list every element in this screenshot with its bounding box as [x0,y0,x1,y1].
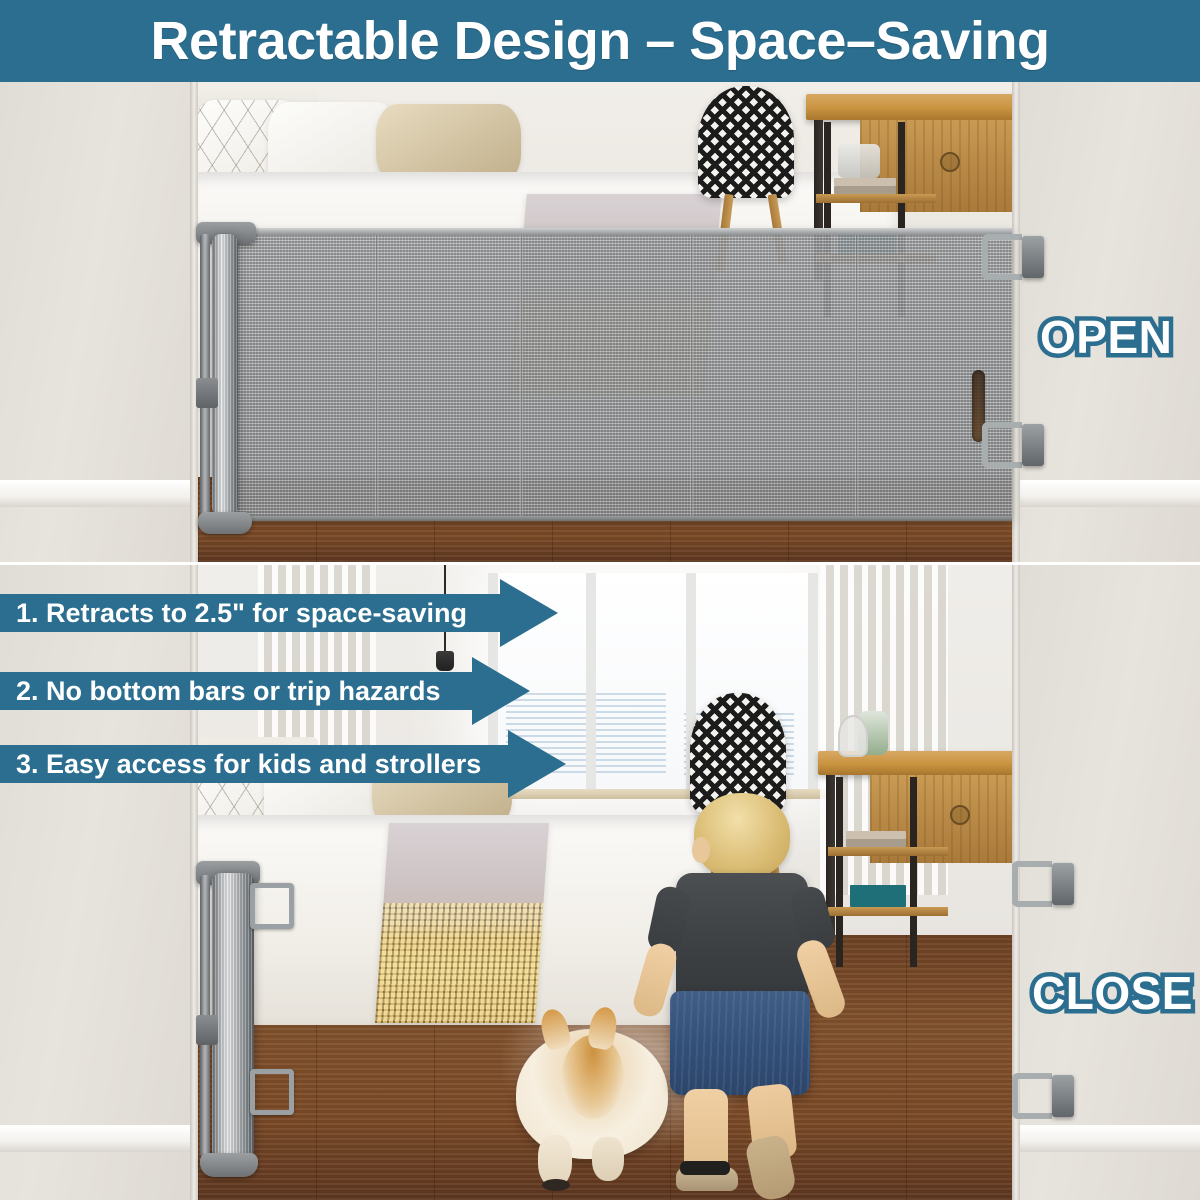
status-badge-open: OPEN [1040,314,1172,360]
window-mullion [808,573,818,791]
wall-left-bottom [0,565,196,1200]
mesh-seam [375,230,378,520]
latch-plate [1022,236,1044,278]
feature-banner-2: 2. No bottom bars or trip hazards [0,672,530,710]
mesh-seam [855,230,858,520]
mesh-seam [520,230,523,520]
desk-drawer-pull-bottom [950,805,970,825]
feature-banner-3-body: 3. Easy access for kids and strollers [0,745,508,783]
gate-handle-loop-bottom[interactable] [250,1069,294,1115]
baseboard-left-bottom [0,1125,196,1152]
shelf-board [816,194,936,203]
feature-banner-1-body: 1. Retracts to 2.5" for space-saving [0,594,500,632]
child-shorts [670,991,810,1095]
gate-latch-bottom-retracted[interactable] [1012,1073,1074,1119]
gate-post-cap-bottom [198,512,252,534]
child-ear [692,837,710,863]
feature-banner-3: 3. Easy access for kids and strollers [0,745,566,783]
gate-bottom-rail [222,516,1012,521]
child-hair [694,793,790,879]
baseboard-left [0,480,196,507]
pendant-lamp [436,651,454,671]
dog-paw [542,1179,570,1191]
shelf-post-bottom [910,777,917,967]
latch-hook-icon [1012,861,1052,907]
door-jamb-right [1012,82,1020,562]
header-banner: Retractable Design – Space–Saving [0,0,1200,82]
desk-surface [806,94,1012,120]
gate-post-retracted [212,873,254,1159]
gate-post-bracket-mid-retracted [196,1015,218,1045]
child-shoe-left-strap [680,1161,730,1175]
feature-banner-2-body: 2. No bottom bars or trip hazards [0,672,472,710]
dog-leg-right [592,1137,624,1181]
gate-latch-bottom[interactable] [982,422,1044,468]
door-jamb-left [190,82,198,562]
gate-post-bracket-mid [196,378,218,408]
mesh-seam [690,230,693,520]
latch-plate [1052,863,1074,905]
gate-latch-top[interactable] [982,234,1044,280]
child-tshirt [676,873,808,1001]
baseboard-right-bottom [1018,1125,1200,1152]
bed-runner-bottom [375,823,549,1023]
product-feature-graphic: Retractable Design – Space–Saving [0,0,1200,1200]
latch-plate [1052,1075,1074,1117]
page-title: Retractable Design – Space–Saving [151,14,1050,68]
gate-post-rail [200,234,210,516]
latch-plate [1022,424,1044,466]
room-interior-bottom [198,565,1012,1200]
gate-post-extended [212,234,238,516]
desk-decor-vase [838,144,880,178]
child-toddler [646,793,866,1193]
latch-hook-icon [982,234,1022,280]
panel-gate-retracted: CLOSE 1. Retracts to 2.5" for space-savi… [0,565,1200,1200]
gate-mesh-extended [222,230,1012,520]
latch-hook-icon [1012,1073,1052,1119]
baseboard-right [1018,480,1200,507]
window-mullion [586,573,596,791]
gate-latch-top-retracted[interactable] [1012,861,1074,907]
gate-post-cap-bottom-retracted [200,1153,258,1177]
feature-banner-3-text: 3. Easy access for kids and strollers [16,751,481,778]
feature-banner-1: 1. Retracts to 2.5" for space-saving [0,594,558,632]
panel-gate-extended: OPEN [0,82,1200,562]
chair [698,86,794,198]
status-badge-close: CLOSE [1032,970,1193,1016]
latch-hook-icon [982,422,1022,468]
feature-banner-2-text: 2. No bottom bars or trip hazards [16,678,441,705]
gate-handle-loop-top[interactable] [250,883,294,929]
feature-banner-1-text: 1. Retracts to 2.5" for space-saving [16,600,467,627]
book [834,178,896,186]
gate-top-rail [222,228,1012,235]
desk-lamp-globe [838,715,868,757]
desk-drawer-pull [940,152,960,172]
book [834,186,896,194]
